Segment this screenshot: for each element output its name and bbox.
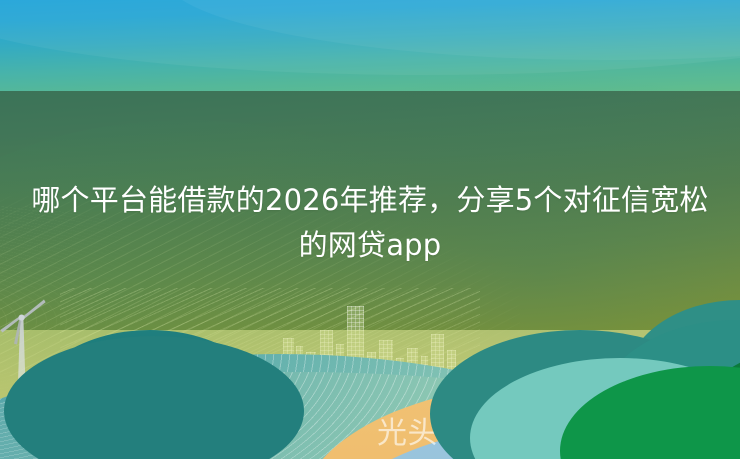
page-title: 哪个平台能借款的2026年推荐，分享5个对征信宽松的网贷app: [0, 178, 740, 268]
banner-image: 哪个平台能借款的2026年推荐，分享5个对征信宽松的网贷app 光头条 - ww…: [0, 0, 740, 459]
